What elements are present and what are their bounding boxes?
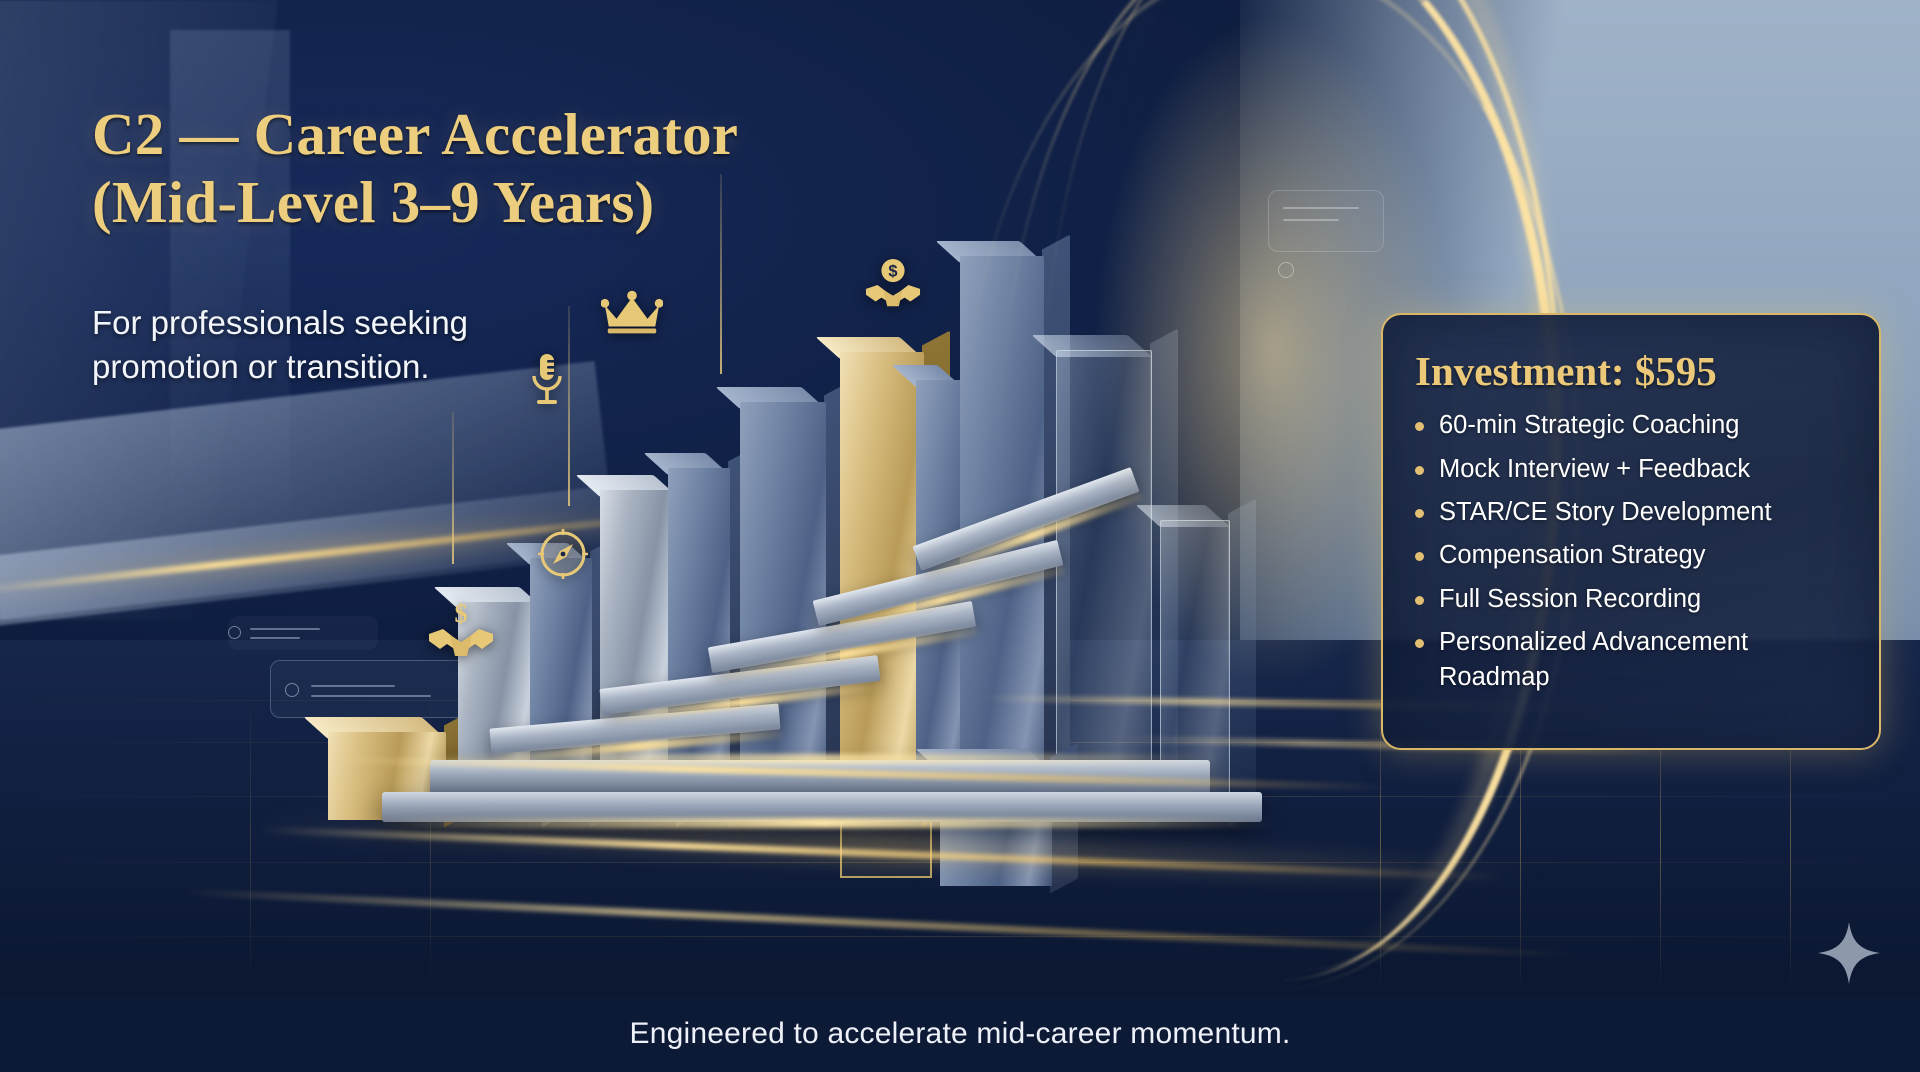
icon-stem	[452, 412, 454, 564]
footer-caption: Engineered to accelerate mid-career mome…	[630, 1017, 1291, 1051]
footer-bar: Engineered to accelerate mid-career mome…	[0, 995, 1920, 1072]
investment-feature-list: 60-min Strategic Coaching Mock Interview…	[1413, 408, 1849, 695]
svg-text:$: $	[888, 262, 897, 280]
handshake-dollar-icon: $	[426, 600, 496, 662]
investment-card: Investment: $595 60-min Strategic Coachi…	[1381, 313, 1881, 750]
compass-icon	[535, 526, 591, 582]
sparkle-icon	[1818, 922, 1880, 984]
banner-canvas: $	[0, 0, 1920, 1072]
bar-chart-3d	[300, 180, 1300, 820]
subtitle: For professionals seeking promotion or t…	[92, 301, 612, 389]
list-item: 60-min Strategic Coaching	[1413, 408, 1849, 443]
list-item: Full Session Recording	[1413, 582, 1849, 617]
list-item: Compensation Strategy	[1413, 538, 1849, 573]
subtitle-line-1: For professionals seeking	[92, 301, 612, 345]
investment-price-heading: Investment: $595	[1415, 349, 1849, 394]
page-title: C2 — Career Accelerator (Mid-Level 3–9 Y…	[92, 100, 992, 237]
list-item: Mock Interview + Feedback	[1413, 452, 1849, 487]
svg-text:$: $	[455, 600, 468, 628]
title-line-2: (Mid-Level 3–9 Years)	[92, 168, 992, 236]
handshake-money-icon: $	[862, 258, 924, 314]
list-item: Personalized Advancement Roadmap	[1413, 625, 1849, 695]
title-line-1: C2 — Career Accelerator	[92, 100, 992, 168]
subtitle-line-2: promotion or transition.	[92, 345, 612, 389]
list-item: STAR/CE Story Development	[1413, 495, 1849, 530]
